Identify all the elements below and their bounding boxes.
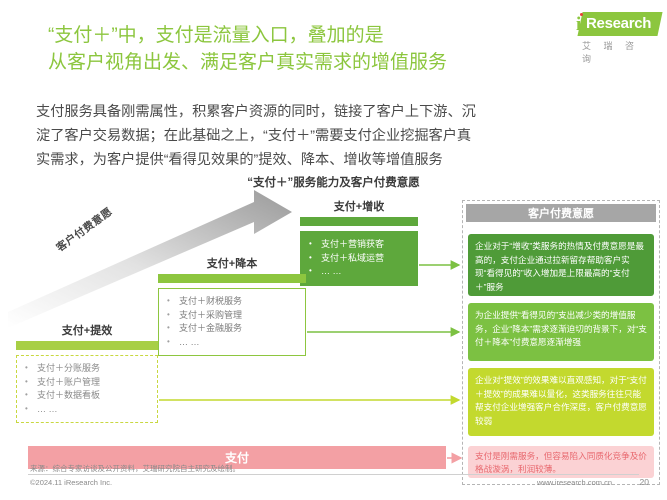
logo-dot-icon <box>580 13 583 16</box>
tier-zengshou[interactable]: 支付+增收 支付＋营销获客 支付＋私域运营 … … <box>300 198 418 286</box>
list-item: … … <box>307 265 413 279</box>
tier-tixiao-label: 支付+提效 <box>16 322 158 338</box>
logo-chinese-name: 艾 瑞 咨 询 <box>582 39 660 65</box>
tier-zengshou-label: 支付+增收 <box>300 198 418 214</box>
tier-jiangben-items: 支付＋财税服务 支付＋采购管理 支付＋金融服务 … … <box>158 288 306 356</box>
slide-page: i Research 艾 瑞 咨 询 “支付＋”中，支付是流量入口，叠加的是 从… <box>0 0 667 500</box>
website-url: www.iresearch.com.cn <box>537 478 612 487</box>
chart-title: “支付＋”服务能力及客户付费意愿 <box>0 174 667 190</box>
logo-mark: i Research <box>572 12 660 37</box>
page-title-line-1: “支付＋”中，支付是流量入口，叠加的是 <box>48 22 558 49</box>
list-item: 支付＋营销获客 <box>307 238 413 252</box>
body-line-1: 支付服务具备刚需属性，积累客户资源的同时，链接了客户上下游、沉 <box>36 100 636 124</box>
list-item: … … <box>165 336 301 350</box>
list-item: 支付＋私域运营 <box>307 252 413 266</box>
source-note: 来源：综合专家访谈及公开资料，艾瑞研究院自主研究及绘制。 <box>30 463 240 474</box>
tier-zengshou-bar <box>300 217 418 226</box>
logo-wordmark: Research <box>586 15 651 32</box>
list-item: 支付＋财税服务 <box>165 295 301 309</box>
list-item: 支付＋分账服务 <box>23 362 153 376</box>
willingness-panel-header: 客户付费意愿 <box>466 204 656 222</box>
tier-tixiao-items: 支付＋分账服务 支付＋账户管理 支付＋数据看板 … … <box>16 355 158 423</box>
tier-jiangben[interactable]: 支付+降本 支付＋财税服务 支付＋采购管理 支付＋金融服务 … … <box>158 255 306 356</box>
tier-tixiao-bar <box>16 341 158 350</box>
panel-note-zengshou: 企业对于“增收”类服务的热情及付费意愿是最高的，支付企业通过拉新留存帮助客户实现… <box>468 234 654 296</box>
logo-initial: i <box>576 14 581 36</box>
panel-note-jiangben: 为企业提供“看得见的”支出减少类的增值服务，企业“降本”需求逐渐迫切的背景下，对… <box>468 303 654 361</box>
body-paragraph: 支付服务具备刚需属性，积累客户资源的同时，链接了客户上下游、沉 淀了客户交易数据… <box>36 100 636 172</box>
list-item: 支付＋金融服务 <box>165 322 301 336</box>
iresearch-logo: i Research 艾 瑞 咨 询 <box>572 12 660 52</box>
list-item: 支付＋账户管理 <box>23 376 153 390</box>
panel-note-tixiao: 企业对“提效”的效果难以直观感知，对于“支付＋提效”的成果难以量化，这类服务往往… <box>468 368 654 436</box>
tier-tixiao[interactable]: 支付+提效 支付＋分账服务 支付＋账户管理 支付＋数据看板 … … <box>16 322 158 423</box>
copyright-text: ©2024.11 iResearch Inc. <box>30 478 112 487</box>
tier-jiangben-label: 支付+降本 <box>158 255 306 271</box>
page-number: 20 <box>640 477 649 487</box>
tier-jiangben-bar <box>158 274 306 283</box>
page-title-line-2: 从客户视角出发、满足客户真实需求的增值服务 <box>48 49 558 76</box>
body-line-3: 实需求，为客户提供“看得见效果的”提效、降本、增收等增值服务 <box>36 148 636 172</box>
body-line-2: 淀了客户交易数据；在此基础之上，“支付＋”需要支付企业挖掘客户真 <box>36 124 636 148</box>
list-item: 支付＋数据看板 <box>23 389 153 403</box>
list-item: 支付＋采购管理 <box>165 309 301 323</box>
footer-divider <box>28 474 639 475</box>
tier-zengshou-items: 支付＋营销获客 支付＋私域运营 … … <box>300 231 418 286</box>
page-title: “支付＋”中，支付是流量入口，叠加的是 从客户视角出发、满足客户真实需求的增值服… <box>48 22 558 76</box>
list-item: … … <box>23 403 153 417</box>
